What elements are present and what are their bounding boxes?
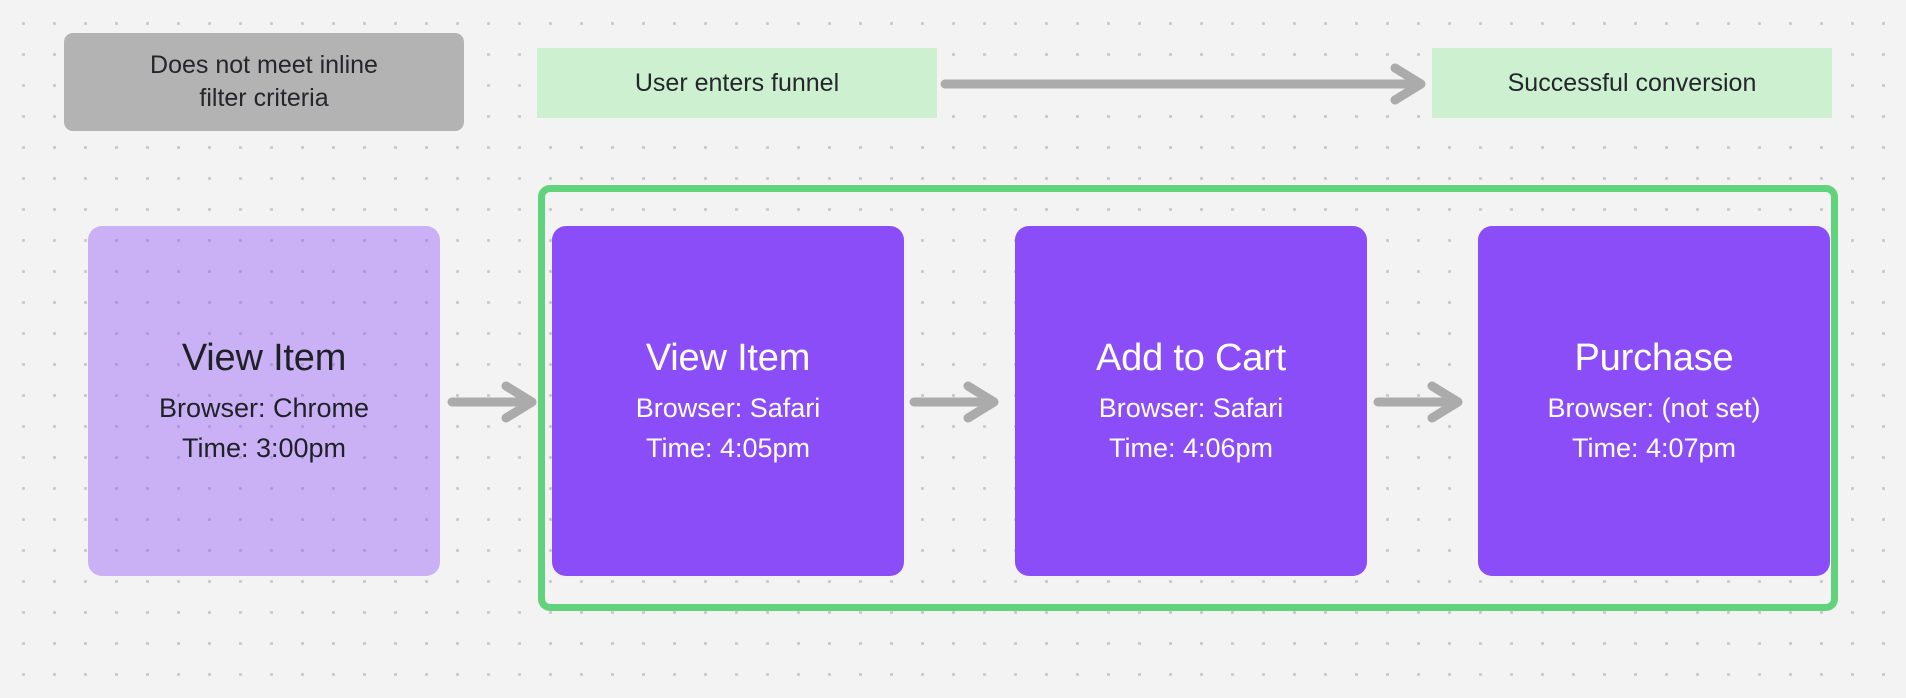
event-card-step-3-time: Time: 4:07pm <box>1572 429 1736 469</box>
event-card-step-2-browser: Browser: Safari <box>1099 389 1284 429</box>
legend-excluded-box: Does not meet inline filter criteria <box>64 33 464 131</box>
event-card-step-3-browser: Browser: (not set) <box>1547 389 1760 429</box>
flow-arrow-2 <box>912 386 1002 418</box>
event-card-step-2-title: Add to Cart <box>1096 333 1286 383</box>
diagram-canvas: Does not meet inline filter criteria Use… <box>0 0 1906 698</box>
event-card-excluded-browser: Browser: Chrome <box>159 389 369 429</box>
legend-flow-arrow <box>943 68 1430 100</box>
event-card-step-1-browser: Browser: Safari <box>636 389 821 429</box>
flow-arrow-1 <box>450 386 540 418</box>
event-card-excluded[interactable]: View Item Browser: Chrome Time: 3:00pm <box>88 226 440 576</box>
flow-arrow-3 <box>1376 386 1466 418</box>
legend-funnel-entry-label: User enters funnel <box>635 67 839 100</box>
legend-conversion-box: Successful conversion <box>1432 48 1832 118</box>
legend-conversion-label: Successful conversion <box>1508 67 1757 100</box>
legend-funnel-entry-box: User enters funnel <box>537 48 937 118</box>
event-card-step-1[interactable]: View Item Browser: Safari Time: 4:05pm <box>552 226 904 576</box>
event-card-step-1-title: View Item <box>646 333 810 383</box>
event-card-step-3-title: Purchase <box>1575 333 1734 383</box>
event-card-step-2[interactable]: Add to Cart Browser: Safari Time: 4:06pm <box>1015 226 1367 576</box>
event-card-excluded-title: View Item <box>182 333 346 383</box>
event-card-excluded-time: Time: 3:00pm <box>182 429 346 469</box>
event-card-step-1-time: Time: 4:05pm <box>646 429 810 469</box>
event-card-step-2-time: Time: 4:06pm <box>1109 429 1273 469</box>
event-card-step-3[interactable]: Purchase Browser: (not set) Time: 4:07pm <box>1478 226 1830 576</box>
legend-excluded-line2: filter criteria <box>199 82 328 115</box>
legend-excluded-line1: Does not meet inline <box>150 49 378 82</box>
